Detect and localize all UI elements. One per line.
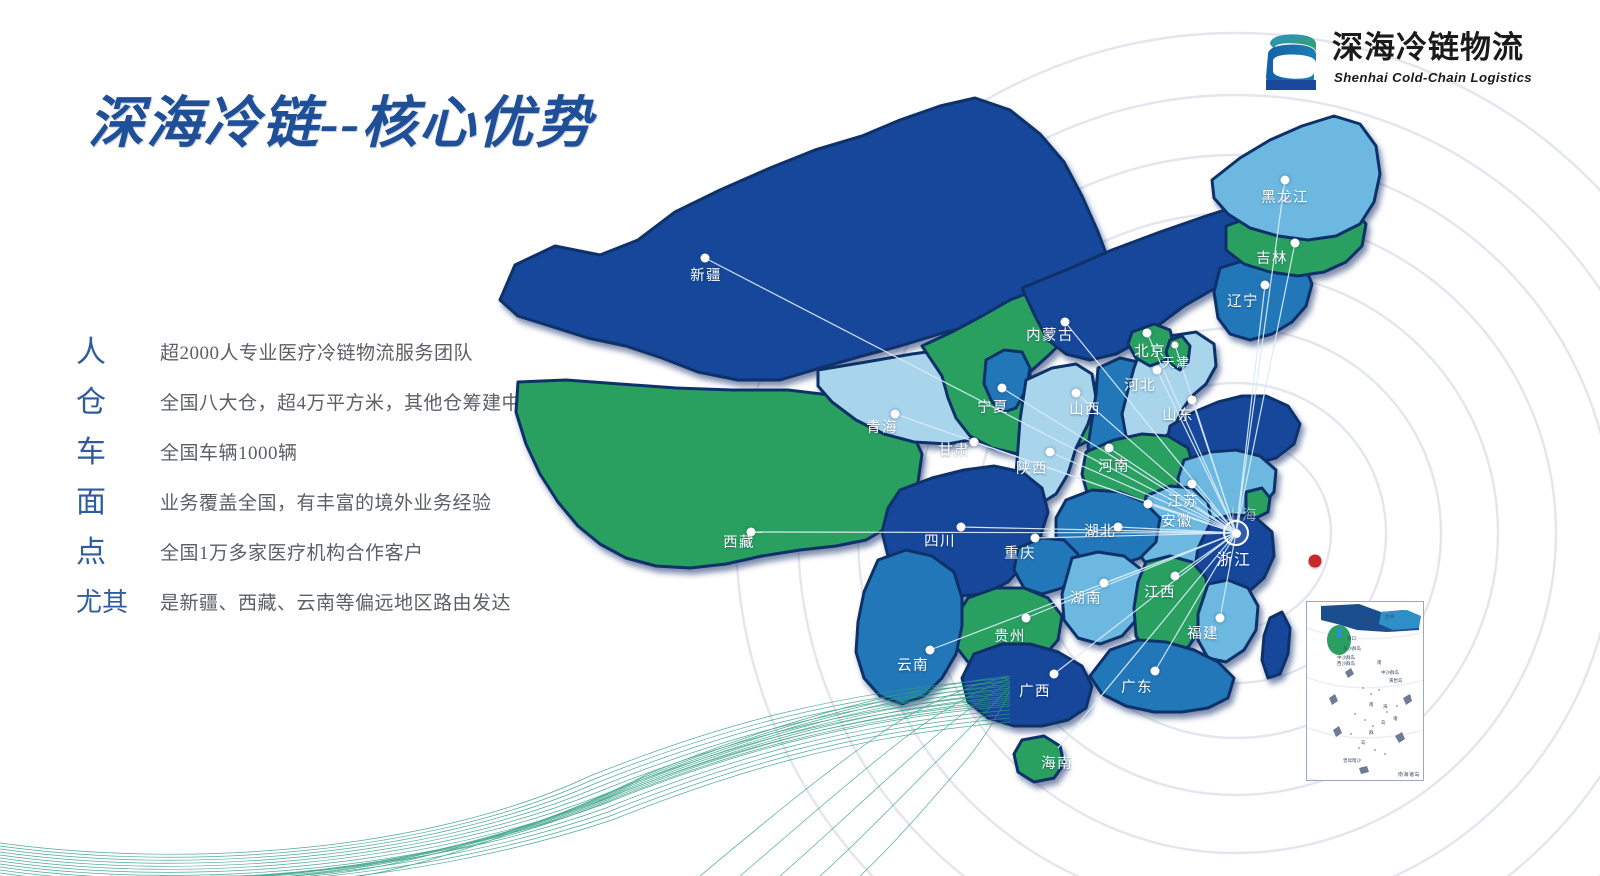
svg-text:岛: 岛 <box>1361 739 1366 746</box>
svg-text:中沙群岛: 中沙群岛 <box>1381 669 1399 676</box>
hub-label-zhejiang: 浙江 <box>1217 546 1252 570</box>
province-label-gansu: 甘肃 <box>938 439 970 460</box>
province-label-jiangsu: 江苏 <box>1167 490 1199 511</box>
province-dot <box>1151 667 1160 676</box>
svg-text:南: 南 <box>1369 701 1374 708</box>
svg-text:岛: 岛 <box>1381 719 1386 726</box>
svg-text:曾母暗沙: 曾母暗沙 <box>1343 757 1361 764</box>
province-label-hebei: 河北 <box>1124 374 1156 395</box>
province-label-shaanxi: 陕西 <box>1016 457 1048 478</box>
province-label-qinghai: 青海 <box>866 416 898 437</box>
hub-marker-zhejiang[interactable] <box>1223 520 1249 546</box>
mesh-wave-ribbon <box>0 676 1010 876</box>
province-label-heilongjiang: 黑龙江 <box>1261 186 1309 207</box>
province-label-xinjiang: 新疆 <box>690 264 722 285</box>
svg-text:南海: 南海 <box>1363 616 1372 623</box>
svg-text:中沙群岛: 中沙群岛 <box>1337 654 1355 661</box>
province-label-sichuan: 四川 <box>924 530 956 551</box>
province-label-tibet: 西藏 <box>723 531 755 552</box>
province-dot <box>1143 329 1152 338</box>
svg-text:东沙群岛: 东沙群岛 <box>1343 645 1361 652</box>
province-label-shanxi: 山西 <box>1069 398 1101 419</box>
svg-text:黄岩岛: 黄岩岛 <box>1389 677 1403 684</box>
province-dot <box>957 523 966 532</box>
red-location-marker[interactable] <box>1309 555 1322 568</box>
slide-canvas: 深海冷链--核心优势 深海冷链物流 Shenhai Cold-Chain Log… <box>0 0 1600 876</box>
province-dot <box>1050 670 1059 679</box>
province-dot <box>1281 176 1290 185</box>
svg-text:海口: 海口 <box>1347 635 1356 642</box>
province-dot <box>1022 614 1031 623</box>
province-dot <box>998 384 1007 393</box>
province-label-guizhou: 贵州 <box>994 625 1026 646</box>
inset-label: 南海诸岛 <box>1398 771 1420 778</box>
province-label-inner-mongolia: 内蒙古 <box>1026 324 1074 345</box>
province-label-hubei: 湖北 <box>1084 520 1116 541</box>
province-label-henan: 河南 <box>1098 455 1130 476</box>
province-dot <box>970 438 979 447</box>
province-dot <box>1261 281 1270 290</box>
province-label-anhui: 安徽 <box>1161 510 1193 531</box>
province-label-ningxia: 宁夏 <box>977 396 1009 417</box>
province-label-jiangxi: 江西 <box>1144 581 1176 602</box>
province-dot <box>1172 342 1179 349</box>
svg-text:台湾: 台湾 <box>1385 613 1394 620</box>
province-label-chongqing: 重庆 <box>1004 542 1036 563</box>
province-label-shandong: 山东 <box>1162 404 1194 425</box>
province-label-liaoning: 辽宁 <box>1227 290 1259 311</box>
svg-text:群: 群 <box>1369 729 1374 736</box>
province-dot <box>1144 500 1153 509</box>
province-dot <box>1291 239 1300 248</box>
south-china-sea-inset: 台湾南海 海口东沙群岛 中沙群岛西沙群岛 南中沙群岛 黄岩岛 南海 诸岛 群岛 … <box>1306 601 1424 781</box>
province-label-hainan: 海南 <box>1041 752 1073 773</box>
province-label-hunan: 湖南 <box>1070 587 1102 608</box>
svg-text:海: 海 <box>1383 703 1388 710</box>
province-dot <box>1072 389 1081 398</box>
province-label-fujian: 福建 <box>1187 622 1219 643</box>
province-dot <box>701 254 710 263</box>
province-label-tianjin: 天津 <box>1162 352 1191 371</box>
province-label-guangdong: 广东 <box>1121 676 1153 697</box>
province-dot <box>1171 572 1180 581</box>
province-label-guangxi: 广西 <box>1019 680 1051 701</box>
province-label-jilin: 吉林 <box>1256 247 1288 268</box>
province-label-yunnan: 云南 <box>897 654 929 675</box>
svg-text:诸: 诸 <box>1393 716 1398 722</box>
province-dot <box>1105 444 1114 453</box>
province-dot <box>1046 448 1055 457</box>
svg-text:南: 南 <box>1377 659 1382 666</box>
province-dot <box>1188 480 1197 489</box>
svg-text:西沙群岛: 西沙群岛 <box>1337 660 1355 667</box>
